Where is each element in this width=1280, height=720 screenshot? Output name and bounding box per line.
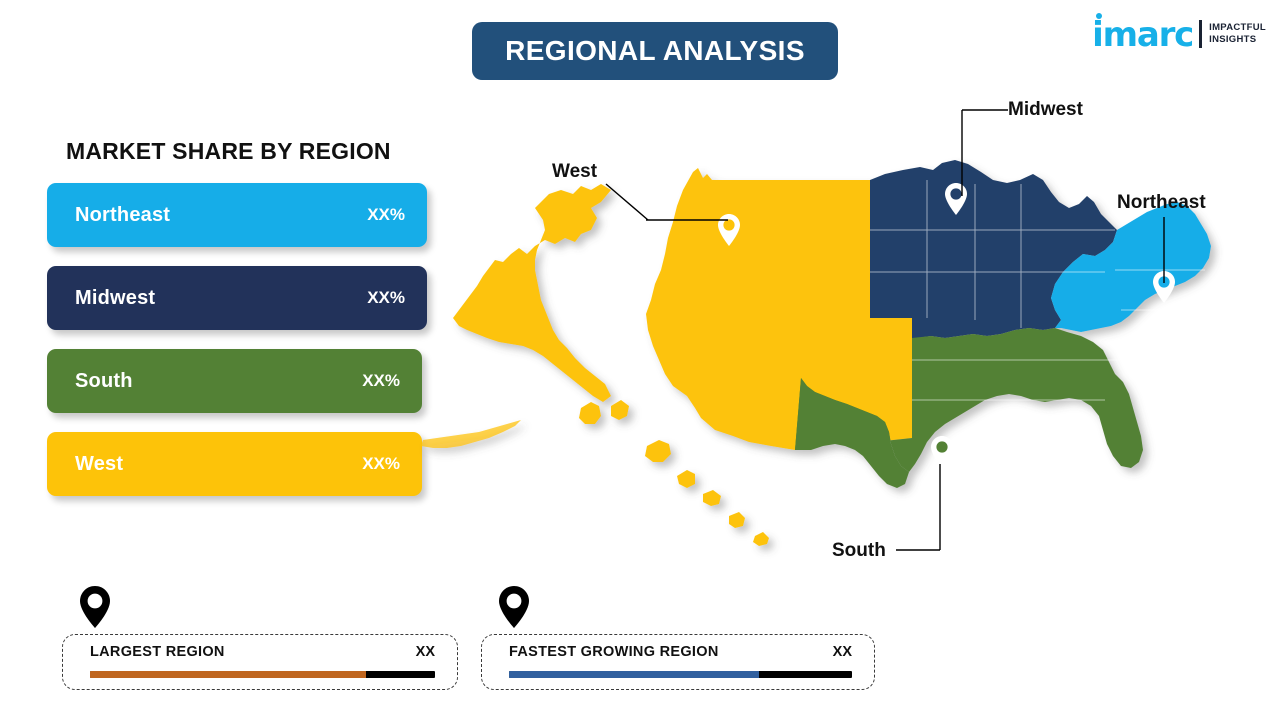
region-aleutians[interactable] [421,420,521,448]
market-share-bar-list: Northeast XX% Midwest XX% South XX% West… [47,183,437,515]
page-title-banner: REGIONAL ANALYSIS [472,22,838,80]
region-alaska[interactable] [453,184,611,402]
logo-wordmark: imarc [1092,20,1193,51]
leader-line-west [600,178,735,228]
logo-tagline-line1: IMPACTFUL [1209,22,1266,34]
map-label-northeast: Northeast [1117,192,1206,214]
map-label-south: South [832,540,886,562]
bar-northeast-value: XX% [367,205,405,225]
bar-south-label: South [75,370,133,393]
fastest-growing-region-progress-fill [509,671,759,678]
largest-region-progress-fill [90,671,366,678]
page-title: REGIONAL ANALYSIS [505,35,805,67]
logo-tagline-line2: INSIGHTS [1209,34,1266,46]
fastest-growing-region-value: XX [833,644,852,660]
logo-divider [1199,20,1202,48]
largest-region-progress-track [90,671,435,678]
largest-region-pin-icon [78,585,112,629]
bar-midwest-label: Midwest [75,287,155,310]
map-label-west: West [552,161,597,183]
largest-region-card[interactable]: LARGEST REGION XX [62,634,458,690]
map-label-midwest: Midwest [1008,99,1083,121]
leader-line-south [890,460,960,558]
bar-midwest-value: XX% [367,288,405,308]
fastest-growing-region-title: FASTEST GROWING REGION [509,644,719,660]
bar-west-value: XX% [362,454,400,474]
largest-region-value: XX [416,644,435,660]
logo-tagline: IMPACTFUL INSIGHTS [1209,22,1266,45]
slide-canvas: REGIONAL ANALYSIS imarc IMPACTFUL INSIGH… [0,0,1280,720]
bar-south[interactable]: South XX% [47,349,422,413]
bar-midwest[interactable]: Midwest XX% [47,266,427,330]
fastest-growing-region-progress-track [509,671,852,678]
bar-south-value: XX% [362,371,400,391]
logo-mark: imarc [1092,20,1193,51]
leader-line-northeast [1158,215,1174,285]
bar-west-label: West [75,453,123,476]
bar-west[interactable]: West XX% [47,432,422,496]
largest-region-row: LARGEST REGION XX [90,644,435,660]
logo-dot-icon [1096,13,1102,19]
bar-northeast[interactable]: Northeast XX% [47,183,427,247]
fastest-growing-region-pin-icon [497,585,531,629]
imarc-logo: imarc IMPACTFUL INSIGHTS [1092,12,1266,58]
bar-northeast-label: Northeast [75,204,170,227]
fastest-growing-region-row: FASTEST GROWING REGION XX [509,644,852,660]
largest-region-title: LARGEST REGION [90,644,225,660]
market-share-heading: MARKET SHARE BY REGION [66,138,391,165]
fastest-growing-region-card[interactable]: FASTEST GROWING REGION XX [481,634,875,690]
